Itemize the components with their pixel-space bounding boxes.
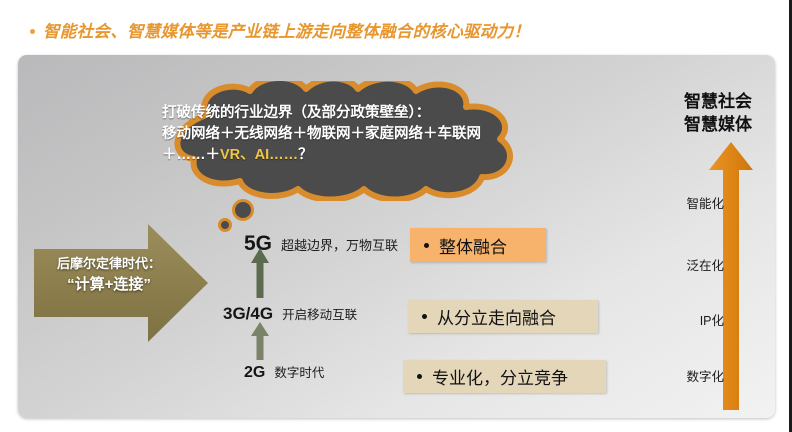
- note-label-converging: 从分立走向融合: [437, 304, 556, 329]
- title-label: 智能社会、智慧媒体等是产业链上游走向整体融合的核心驱动力！: [43, 18, 530, 42]
- note-box-integration[interactable]: 整体融合: [410, 228, 546, 262]
- cloud-line-1: 打破传统的行业边界（及部分政策壁垒）：: [162, 103, 481, 124]
- right-heading: 智慧社会 智慧媒体: [658, 90, 775, 136]
- cloud-line-3: ＋……＋VR、AI……？: [162, 145, 481, 166]
- note-bullet-icon: [424, 243, 429, 248]
- up-arrow-icon-1: [250, 247, 270, 299]
- era-arrow-line-1: 后摩尔定律时代：: [44, 254, 174, 274]
- era-arrow: 后摩尔定律时代： “计算+连接”: [32, 222, 210, 345]
- stage-label-intelligent: 智能化: [638, 193, 724, 212]
- title-bullet-icon: [30, 29, 35, 34]
- thought-cloud: 打破传统的行业边界（及部分政策壁垒）： 移动网络＋无线网络＋物联网＋家庭网络＋车…: [134, 81, 558, 201]
- right-heading-line-1: 智慧社会: [658, 90, 775, 113]
- content-panel: 打破传统的行业边界（及部分政策壁垒）： 移动网络＋无线网络＋物联网＋家庭网络＋车…: [18, 55, 775, 418]
- generation-label-2g: 2G: [244, 364, 265, 382]
- cloud-line-2: 移动网络＋无线网络＋物联网＋家庭网络＋车联网: [162, 124, 481, 145]
- note-label-specialization: 专业化，分立竞争: [432, 364, 568, 389]
- generation-desc-3g4g: 开启移动互联: [282, 304, 357, 323]
- era-arrow-line-2: “计算+连接”: [44, 274, 174, 296]
- right-heading-line-2: 智慧媒体: [658, 113, 775, 136]
- thought-bubble-large-icon: [232, 199, 254, 221]
- note-box-specialization[interactable]: 专业化，分立竞争: [403, 360, 606, 393]
- cloud-line-3-highlight: VR、AI……: [220, 147, 298, 163]
- cloud-text-block: 打破传统的行业边界（及部分政策壁垒）： 移动网络＋无线网络＋物联网＋家庭网络＋车…: [162, 103, 481, 166]
- up-arrow-icon-2: [250, 321, 270, 361]
- note-bullet-icon: [422, 314, 427, 319]
- era-arrow-text: 后摩尔定律时代： “计算+连接”: [44, 254, 174, 296]
- thought-bubble-small-icon: [218, 218, 232, 232]
- generation-desc-5g: 超越边界，万物互联: [281, 235, 398, 254]
- generation-row-2g: 2G 数字时代: [244, 362, 324, 382]
- note-bullet-icon: [417, 374, 422, 379]
- note-label-integration: 整体融合: [439, 233, 507, 258]
- generation-row-3g4g: 3G/4G 开启移动互联: [223, 304, 357, 324]
- note-box-converging[interactable]: 从分立走向融合: [408, 300, 598, 333]
- slide-canvas: 智能社会、智慧媒体等是产业链上游走向整体融合的核心驱动力！ 打破传统的行业边界（…: [0, 0, 792, 432]
- stage-label-ubiquitous: 泛在化: [638, 255, 724, 274]
- cloud-line-3-prefix: ＋……＋: [162, 147, 220, 163]
- generation-desc-2g: 数字时代: [274, 362, 324, 381]
- stage-label-ip: IP化: [638, 310, 724, 329]
- page-title: 智能社会、智慧媒体等是产业链上游走向整体融合的核心驱动力！: [30, 18, 530, 42]
- cloud-line-3-suffix: ？: [298, 147, 313, 163]
- stage-label-digital: 数字化: [638, 366, 724, 385]
